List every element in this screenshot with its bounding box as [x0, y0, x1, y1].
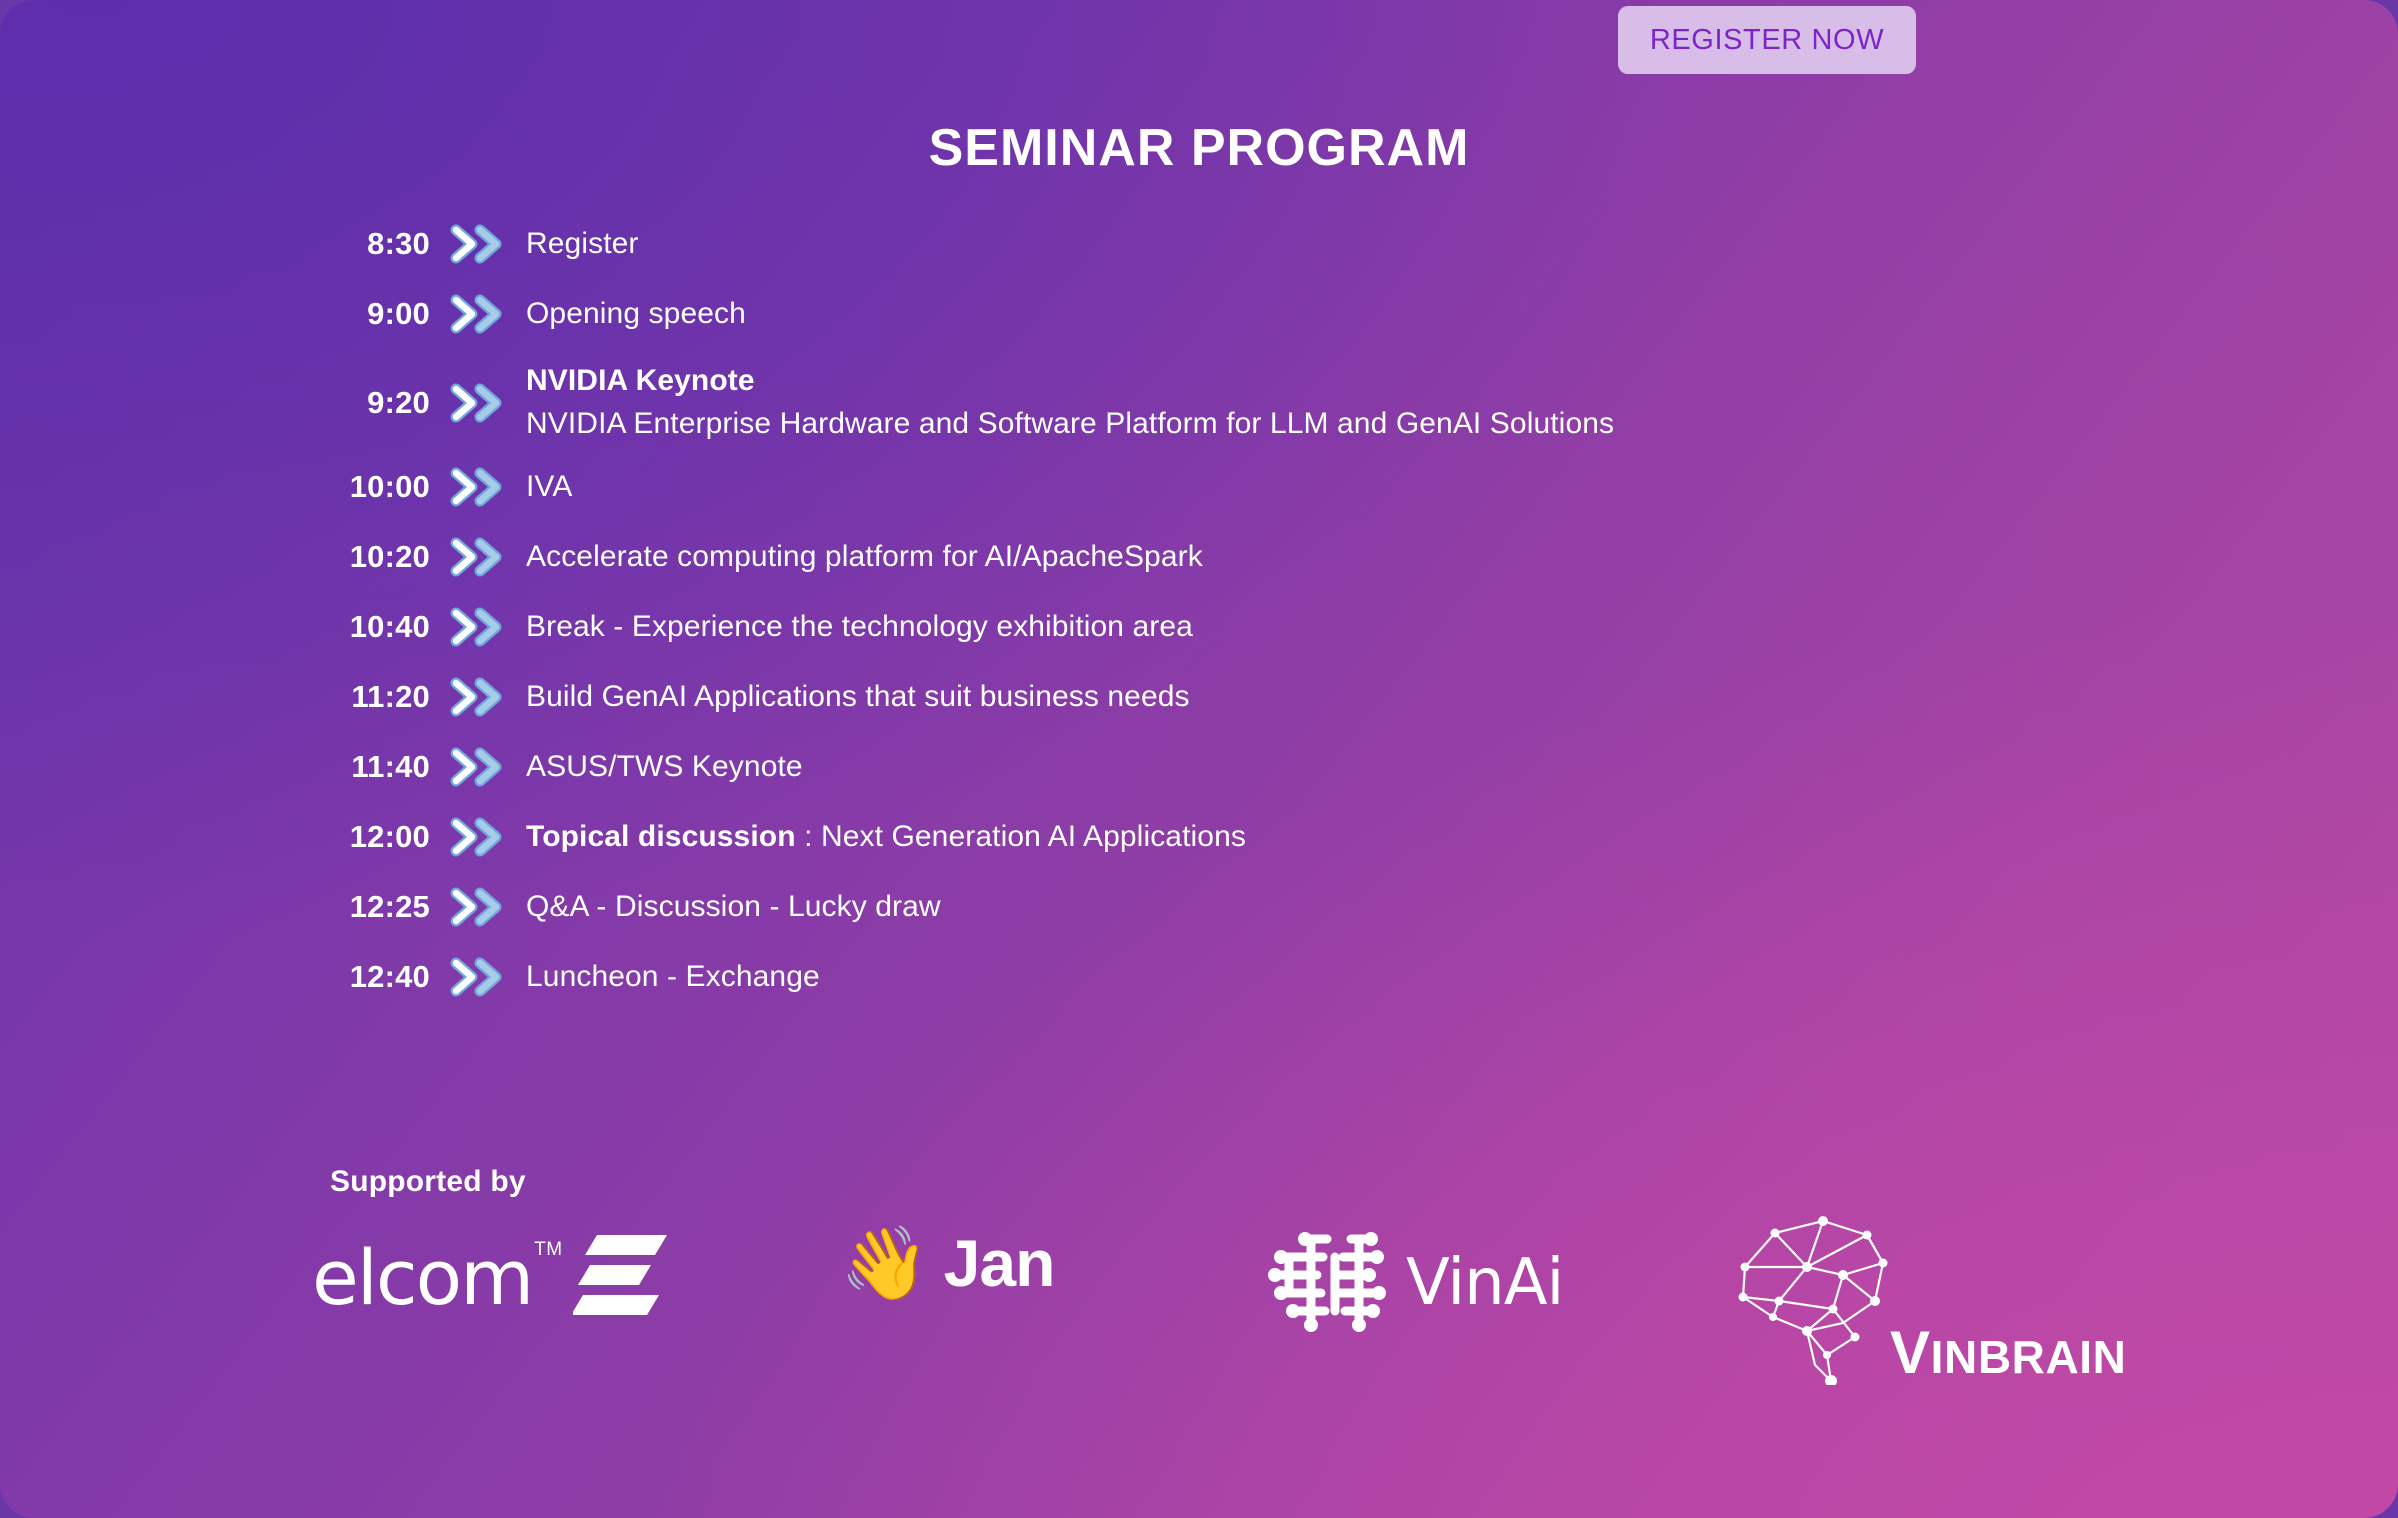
elcom-wordmark: elcom	[312, 1240, 532, 1316]
vinai-circuit-icon	[1265, 1225, 1390, 1340]
schedule-row: 9:00 Opening speech	[300, 290, 2200, 338]
schedule-entry-text: Topical discussion : Next Generation AI …	[526, 816, 1246, 859]
schedule-row: 11:40 ASUS/TWS Keynote	[300, 743, 2200, 791]
schedule-entry-text: Register	[526, 223, 639, 266]
schedule-row: 12:25 Q&A - Discussion - Lucky draw	[300, 883, 2200, 931]
jan-wordmark: Jan	[944, 1230, 1055, 1296]
schedule-row: 8:30 Register	[300, 220, 2200, 268]
schedule-entry-text: Q&A - Discussion - Lucky draw	[526, 886, 941, 929]
sponsor-logo-vinai[interactable]: VinAi	[1265, 1225, 1563, 1340]
schedule-time: 12:25	[300, 889, 430, 925]
schedule-row: 10:40 Break - Experience the technology …	[300, 603, 2200, 651]
schedule-time: 12:00	[300, 819, 430, 855]
schedule-time: 9:00	[300, 296, 430, 332]
schedule-entry-title: Topical discussion	[526, 820, 796, 853]
schedule-entry-text: Opening speech	[526, 293, 746, 336]
schedule-entry-text: Build GenAI Applications that suit busin…	[526, 676, 1190, 719]
schedule-row: 11:20 Build GenAI Applications that suit…	[300, 673, 2200, 721]
seminar-program-page: REGISTER NOW SEMINAR PROGRAM 8:30 Regist…	[0, 0, 2398, 1518]
schedule-row: 12:40 Luncheon - Exchange	[300, 953, 2200, 1001]
double-chevron-icon	[430, 383, 526, 423]
schedule-entry-text: IVA	[526, 466, 572, 509]
vinai-wordmark: VinAi	[1406, 1251, 1563, 1315]
schedule-entry-text: NVIDIA KeynoteNVIDIA Enterprise Hardware…	[526, 360, 1614, 445]
schedule-time: 10:40	[300, 609, 430, 645]
page-title: SEMINAR PROGRAM	[0, 118, 2398, 178]
register-now-button[interactable]: REGISTER NOW	[1618, 6, 1916, 74]
schedule-entry-detail: : Next Generation AI Applications	[796, 820, 1246, 853]
schedule-entry-text: ASUS/TWS Keynote	[526, 746, 803, 789]
sponsor-logo-elcom[interactable]: elcom TM	[312, 1233, 669, 1322]
schedule-time: 10:20	[300, 539, 430, 575]
double-chevron-icon	[430, 817, 526, 857]
sponsor-logo-vinbrain[interactable]: VINBRAIN	[1715, 1205, 1975, 1390]
double-chevron-icon	[430, 537, 526, 577]
schedule-entry-text: Accelerate computing platform for AI/Apa…	[526, 536, 1203, 579]
double-chevron-icon	[430, 747, 526, 787]
schedule-row: 9:20 NVIDIA KeynoteNVIDIA Enterprise Har…	[300, 360, 2200, 445]
elcom-e-mark-icon	[573, 1233, 669, 1322]
schedule-row: 12:00 Topical discussion : Next Generati…	[300, 813, 2200, 861]
schedule-time: 11:20	[300, 679, 430, 715]
schedule-entry-text: Luncheon - Exchange	[526, 956, 820, 999]
schedule-time: 8:30	[300, 226, 430, 262]
double-chevron-icon	[430, 224, 526, 264]
double-chevron-icon	[430, 607, 526, 647]
schedule-time: 11:40	[300, 749, 430, 785]
schedule-list: 8:30 Register9:00 Opening speech9:20 NVI…	[300, 220, 2200, 1023]
schedule-entry-subtitle: NVIDIA Enterprise Hardware and Software …	[526, 403, 1614, 446]
waving-hand-icon: 👋	[840, 1227, 930, 1299]
vinbrain-wordmark: VINBRAIN	[1890, 1323, 2126, 1383]
schedule-entry-title: NVIDIA Keynote	[526, 364, 755, 397]
schedule-time: 10:00	[300, 469, 430, 505]
double-chevron-icon	[430, 887, 526, 927]
double-chevron-icon	[430, 467, 526, 507]
supported-by-label: Supported by	[330, 1165, 526, 1199]
elcom-trademark-icon: TM	[534, 1239, 562, 1261]
schedule-row: 10:20 Accelerate computing platform for …	[300, 533, 2200, 581]
double-chevron-icon	[430, 677, 526, 717]
schedule-row: 10:00 IVA	[300, 463, 2200, 511]
schedule-entry-text: Break - Experience the technology exhibi…	[526, 606, 1193, 649]
double-chevron-icon	[430, 294, 526, 334]
schedule-time: 9:20	[300, 385, 430, 421]
double-chevron-icon	[430, 957, 526, 997]
schedule-time: 12:40	[300, 959, 430, 995]
sponsor-logos: elcom TM 👋 Jan	[300, 1205, 2200, 1385]
sponsor-logo-jan[interactable]: 👋 Jan	[840, 1227, 1054, 1299]
